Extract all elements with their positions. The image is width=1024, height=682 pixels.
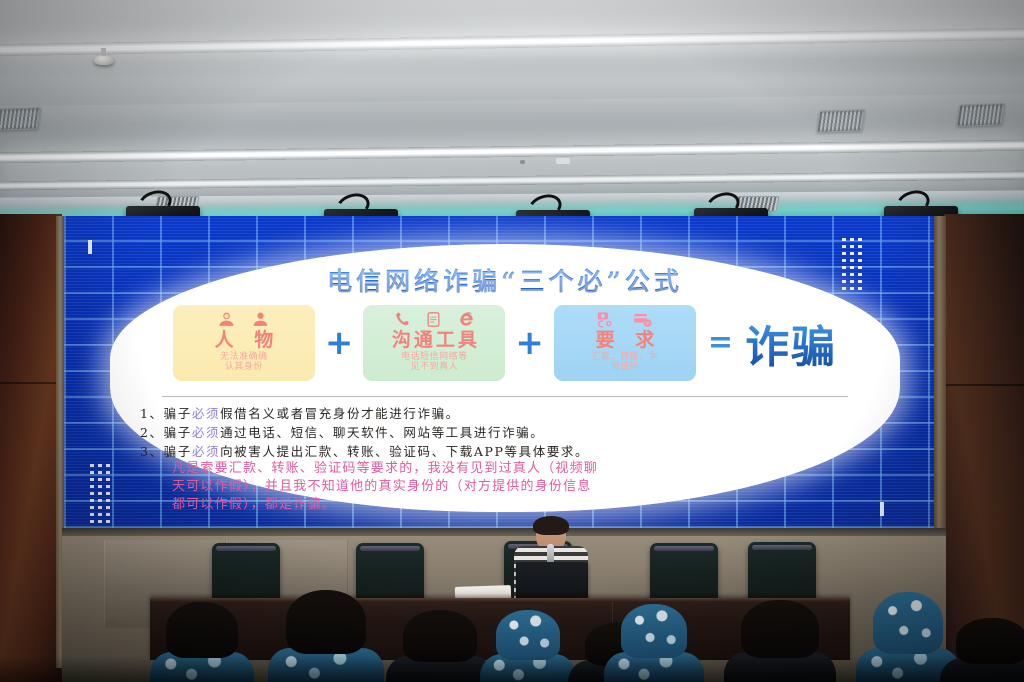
- audience-head: [956, 618, 1024, 664]
- bullet-keyword: 必须: [192, 425, 220, 440]
- money-transfer-icon: [596, 310, 617, 329]
- slide-divider: [162, 396, 848, 397]
- audience-surgical-cap: [496, 610, 560, 660]
- box-sub-line: 电话短信网络等: [401, 352, 468, 362]
- smartphone-icon: [426, 311, 441, 328]
- box-sub-demands: 汇款、转账、本 验证码: [592, 352, 659, 372]
- box-icons: ¥: [596, 309, 653, 330]
- bullet-number: 3、: [140, 444, 164, 459]
- paragraph-line: 都可以作假），都是诈骗。: [172, 496, 852, 514]
- list-item: 3、骗子必须向被害人提出汇款、转账、验证码、下载APP等具体要求。: [140, 442, 876, 461]
- audience-member: [724, 594, 836, 682]
- box-sub-line: 认其身份: [220, 362, 268, 372]
- audience-member: [150, 596, 254, 682]
- formula-box-demands: ¥ 要 求 汇款、转账、本 验证码: [554, 305, 696, 381]
- lecture-hall-photo: 电信网络诈骗“三个必”公式: [0, 0, 1024, 682]
- box-label-demands: 要 求: [589, 331, 662, 351]
- glasses-icon: [538, 531, 564, 538]
- presentation-slide: 电信网络诈骗“三个必”公式: [110, 244, 900, 512]
- formula-row: 人 物 无法准确确 认其身份 +: [126, 302, 884, 384]
- list-item: 1、骗子必须假借名义或者冒充身份才能进行诈骗。: [140, 404, 876, 423]
- box-label-tools: 沟通工具: [389, 331, 480, 351]
- audience-head: [403, 610, 477, 662]
- bank-card-icon: ¥: [632, 310, 653, 329]
- box-sub-tools: 电话短信网络等 见不到真人: [401, 352, 468, 372]
- audience-head: [166, 602, 238, 658]
- ceiling-light-strip: [0, 28, 1024, 56]
- audience-member: [268, 584, 384, 682]
- led-marker: [88, 240, 92, 254]
- bullet-list: 1、骗子必须假借名义或者冒充身份才能进行诈骗。 2、骗子必须通过电话、短信、聊天…: [140, 404, 876, 461]
- laptop-icon: [516, 562, 588, 602]
- bullet-post: 向被害人提出汇款、转账、验证码、下载APP等具体要求。: [220, 444, 589, 459]
- smoke-detector-icon: [94, 55, 114, 65]
- audience-member: [940, 612, 1024, 682]
- led-marker: [98, 464, 102, 526]
- bullet-keyword: 必须: [192, 444, 220, 459]
- audience-member: [604, 598, 704, 682]
- bullet-pre: 骗子: [164, 425, 192, 440]
- summary-paragraph: 凡是索要汇款、转账、验证码等要求的，我没有见到过真人（视频聊 天可以作假），并且…: [172, 460, 852, 514]
- bullet-number: 2、: [140, 425, 164, 440]
- slide-title: 电信网络诈骗“三个必”公式: [110, 262, 900, 298]
- equals-symbol: =: [708, 328, 733, 358]
- box-sub-line: 无法准确确: [220, 352, 268, 362]
- internet-e-icon: [456, 311, 475, 328]
- plus-symbol-1: +: [325, 326, 354, 360]
- air-vent-icon: [0, 107, 42, 131]
- bullet-post: 通过电话、短信、聊天软件、网站等工具进行诈骗。: [220, 425, 544, 440]
- formula-box-tools: 沟通工具 电话短信网络等 见不到真人: [363, 305, 505, 381]
- air-vent-icon: [956, 103, 1005, 127]
- bullet-post: 假借名义或者冒充身份才能进行诈骗。: [220, 406, 460, 421]
- left-wood-wall: [0, 214, 62, 682]
- bullet-pre: 骗子: [164, 406, 192, 421]
- ceiling-fixture: [520, 160, 525, 164]
- box-sub-line: 汇款、转账、本: [592, 352, 659, 362]
- audience-surgical-cap: [873, 592, 943, 654]
- plus-symbol-2: +: [515, 326, 544, 360]
- audience-member: [386, 604, 494, 682]
- result-label-fraud: 诈骗: [745, 311, 837, 375]
- ceiling-light-strip: [0, 171, 1024, 191]
- box-label-people: 人 物: [208, 331, 281, 351]
- person-male-icon: [251, 310, 270, 329]
- list-item: 2、骗子必须通过电话、短信、聊天软件、网站等工具进行诈骗。: [140, 423, 876, 442]
- bullet-pre: 骗子: [164, 444, 192, 459]
- audience-surgical-cap: [621, 604, 687, 658]
- box-sub-people: 无法准确确 认其身份: [220, 352, 268, 372]
- person-female-icon: [217, 310, 236, 329]
- box-sub-line: 见不到真人: [401, 362, 468, 372]
- paragraph-line: 凡是索要汇款、转账、验证码等要求的，我没有见到过真人（视频聊: [172, 460, 852, 478]
- led-marker: [90, 464, 94, 526]
- box-icons: [217, 309, 270, 330]
- phone-icon: [394, 311, 411, 328]
- air-vent-icon: [816, 109, 865, 133]
- bullet-keyword: 必须: [192, 406, 220, 421]
- ceiling-fixture: [556, 158, 570, 164]
- audience-member: [480, 604, 576, 682]
- audience-head: [286, 590, 366, 654]
- audience-head: [741, 600, 819, 658]
- bullet-number: 1、: [140, 406, 164, 421]
- ceiling: [0, 0, 1024, 200]
- box-icons: [394, 309, 475, 330]
- formula-box-people: 人 物 无法准确确 认其身份: [173, 305, 315, 381]
- svg-text:¥: ¥: [646, 321, 650, 327]
- box-sub-line: 验证码: [592, 362, 659, 372]
- paragraph-line: 天可以作假），并且我不知道他的真实身份的（对方提供的身份信息: [172, 478, 852, 496]
